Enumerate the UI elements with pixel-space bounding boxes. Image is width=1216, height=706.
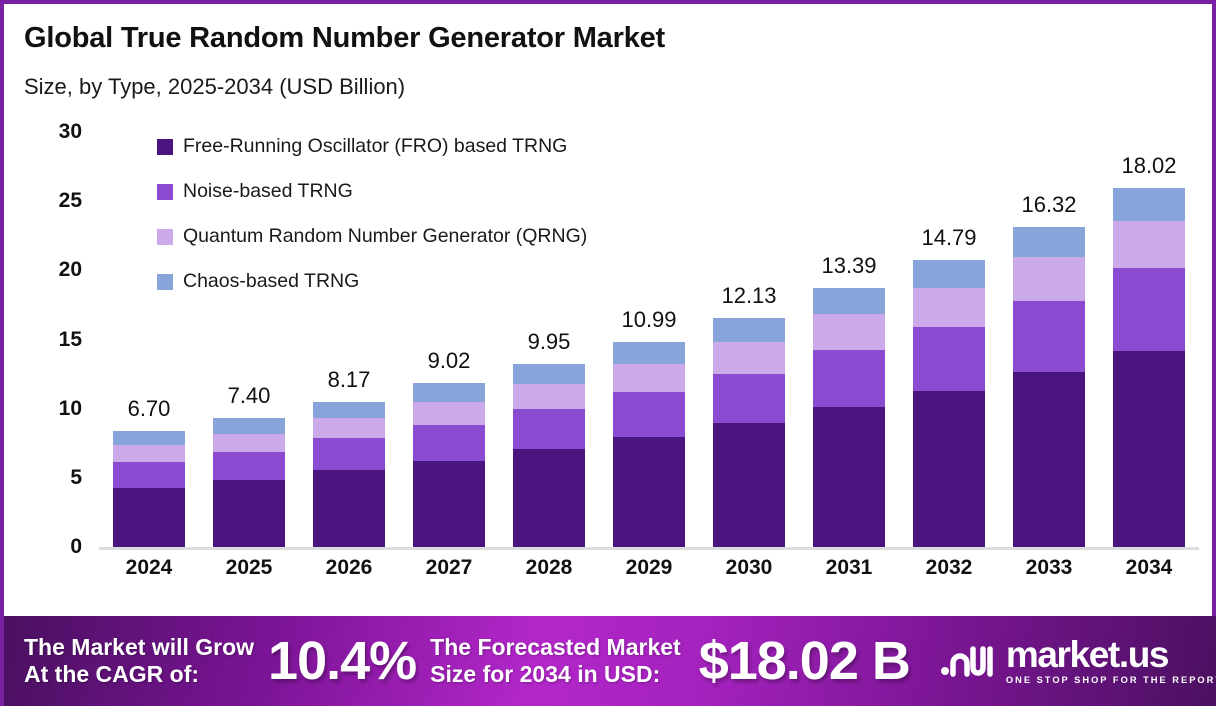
market-us-wordmark-group: market.us ONE STOP SHOP FOR THE REPORTS	[1006, 637, 1216, 684]
forecast-label-line1: The Forecasted Market	[430, 634, 681, 661]
bar-segment[interactable]	[513, 409, 585, 448]
cagr-value: 10.4%	[268, 630, 416, 692]
bar-segment[interactable]	[313, 418, 385, 438]
x-axis-tick-label: 2029	[626, 556, 673, 580]
bar-segment[interactable]	[1013, 372, 1085, 547]
bar-segment[interactable]	[413, 402, 485, 425]
bar-segment[interactable]	[713, 423, 785, 548]
legend-item-label: Noise-based TRNG	[183, 180, 353, 203]
chart-legend: Free-Running Oscillator (FRO) based TRNG…	[157, 124, 717, 304]
y-axis-tick-label: 5	[22, 466, 82, 490]
bar-segment[interactable]	[513, 384, 585, 410]
bar-total-label: 6.70	[128, 396, 171, 422]
bar-segment[interactable]	[613, 392, 685, 437]
bar-segment[interactable]	[513, 364, 585, 384]
forecast-block: The Forecasted Market Size for 2034 in U…	[430, 634, 681, 687]
bar-segment[interactable]	[713, 318, 785, 342]
bar-segment[interactable]	[213, 480, 285, 547]
legend-item[interactable]: Noise-based TRNG	[157, 169, 717, 214]
bar-segment[interactable]	[813, 350, 885, 407]
bar-total-label: 16.32	[1021, 192, 1076, 218]
market-us-mark-icon	[940, 641, 996, 681]
bar-segment[interactable]	[713, 342, 785, 374]
bar-segment[interactable]	[613, 437, 685, 547]
x-axis-tick-label: 2032	[926, 556, 973, 580]
x-axis-tick-label: 2025	[226, 556, 273, 580]
bar-stack[interactable]: 18.02	[1113, 188, 1185, 547]
legend-swatch-qrng-icon	[157, 229, 173, 245]
market-us-logo[interactable]: market.us ONE STOP SHOP FOR THE REPORTS	[940, 637, 1216, 684]
bar-segment[interactable]	[1113, 188, 1185, 221]
y-axis-tick-label: 30	[22, 120, 82, 144]
bar-segment[interactable]	[613, 342, 685, 364]
bar-segment[interactable]	[113, 445, 185, 462]
legend-swatch-chaos-icon	[157, 274, 173, 290]
bar-segment[interactable]	[913, 288, 985, 327]
bar-segment[interactable]	[213, 434, 285, 452]
bar-stack[interactable]: 9.95	[513, 364, 585, 547]
logo-name: market.us	[1006, 637, 1216, 672]
bar-stack[interactable]: 13.39	[813, 288, 885, 547]
y-axis-tick-label: 15	[22, 328, 82, 352]
forecast-value: $18.02 B	[699, 630, 910, 692]
bar-total-label: 9.02	[428, 348, 471, 374]
x-axis-tick-label: 2024	[126, 556, 173, 580]
bar-segment[interactable]	[313, 438, 385, 469]
x-axis-tick-label: 2031	[826, 556, 873, 580]
bar-total-label: 10.99	[621, 307, 676, 333]
y-axis-tick-label: 20	[22, 258, 82, 282]
bar-segment[interactable]	[913, 391, 985, 547]
bar-segment[interactable]	[813, 288, 885, 314]
bar-stack[interactable]: 14.79	[913, 260, 985, 547]
bar-segment[interactable]	[1113, 351, 1185, 547]
legend-item[interactable]: Free-Running Oscillator (FRO) based TRNG	[157, 124, 717, 169]
x-axis-tick-label: 2028	[526, 556, 573, 580]
infographic-page: Global True Random Number Generator Mark…	[0, 0, 1216, 706]
bar-segment[interactable]	[1113, 221, 1185, 268]
bar-total-label: 13.39	[821, 253, 876, 279]
forecast-label-line2: Size for 2034 in USD:	[430, 661, 681, 688]
logo-tagline: ONE STOP SHOP FOR THE REPORTS	[1006, 675, 1216, 685]
bar-stack[interactable]: 9.02	[413, 383, 485, 547]
legend-item[interactable]: Chaos-based TRNG	[157, 259, 717, 304]
bar-segment[interactable]	[813, 314, 885, 350]
bar-segment[interactable]	[113, 488, 185, 547]
footer-banner: The Market will Grow At the CAGR of: 10.…	[4, 616, 1216, 706]
legend-swatch-noise-icon	[157, 184, 173, 200]
cagr-label-line1: The Market will Grow	[24, 634, 254, 661]
y-axis-tick-label: 25	[22, 189, 82, 213]
bar-segment[interactable]	[713, 374, 785, 422]
bar-stack[interactable]: 7.40	[213, 418, 285, 547]
bar-total-label: 18.02	[1121, 153, 1176, 179]
y-axis-tick-label: 10	[22, 397, 82, 421]
bar-stack[interactable]: 16.32	[1013, 227, 1085, 547]
bar-segment[interactable]	[913, 260, 985, 288]
bar-total-label: 14.79	[921, 225, 976, 251]
bar-stack[interactable]: 10.99	[613, 342, 685, 547]
bar-segment[interactable]	[813, 407, 885, 547]
bar-segment[interactable]	[413, 383, 485, 402]
bar-total-label: 9.95	[528, 329, 571, 355]
bar-segment[interactable]	[213, 452, 285, 480]
bar-segment[interactable]	[313, 470, 385, 547]
legend-item-label: Free-Running Oscillator (FRO) based TRNG	[183, 135, 567, 158]
legend-swatch-fro-icon	[157, 139, 173, 155]
y-axis-tick-label: 0	[22, 535, 82, 559]
bar-segment[interactable]	[413, 461, 485, 547]
x-axis-tick-label: 2034	[1126, 556, 1173, 580]
bar-segment[interactable]	[1013, 257, 1085, 301]
legend-item-label: Quantum Random Number Generator (QRNG)	[183, 225, 587, 248]
bar-stack[interactable]: 6.70	[113, 431, 185, 547]
chart-plot-area: 051015202530 6.707.408.179.029.9510.9912…	[4, 4, 1216, 604]
x-axis-tick-label: 2027	[426, 556, 473, 580]
legend-item-label: Chaos-based TRNG	[183, 270, 359, 293]
legend-item[interactable]: Quantum Random Number Generator (QRNG)	[157, 214, 717, 259]
bar-stack[interactable]: 12.13	[713, 318, 785, 547]
bar-total-label: 12.13	[721, 283, 776, 309]
bar-segment[interactable]	[213, 418, 285, 433]
x-axis-tick-label: 2026	[326, 556, 373, 580]
cagr-block: The Market will Grow At the CAGR of:	[24, 634, 254, 687]
bar-segment[interactable]	[413, 425, 485, 461]
bar-total-label: 7.40	[228, 383, 271, 409]
bar-stack[interactable]: 8.17	[313, 402, 385, 547]
x-axis-tick-label: 2033	[1026, 556, 1073, 580]
bar-total-label: 8.17	[328, 367, 371, 393]
bar-segment[interactable]	[613, 364, 685, 392]
bar-segment[interactable]	[113, 431, 185, 446]
cagr-label-line2: At the CAGR of:	[24, 661, 254, 688]
bar-segment[interactable]	[513, 449, 585, 547]
bar-segment[interactable]	[313, 402, 385, 419]
bar-segment[interactable]	[1013, 301, 1085, 372]
bar-segment[interactable]	[113, 462, 185, 488]
bar-segment[interactable]	[913, 327, 985, 391]
x-axis-tick-label: 2030	[726, 556, 773, 580]
bar-segment[interactable]	[1013, 227, 1085, 257]
bar-segment[interactable]	[1113, 268, 1185, 350]
